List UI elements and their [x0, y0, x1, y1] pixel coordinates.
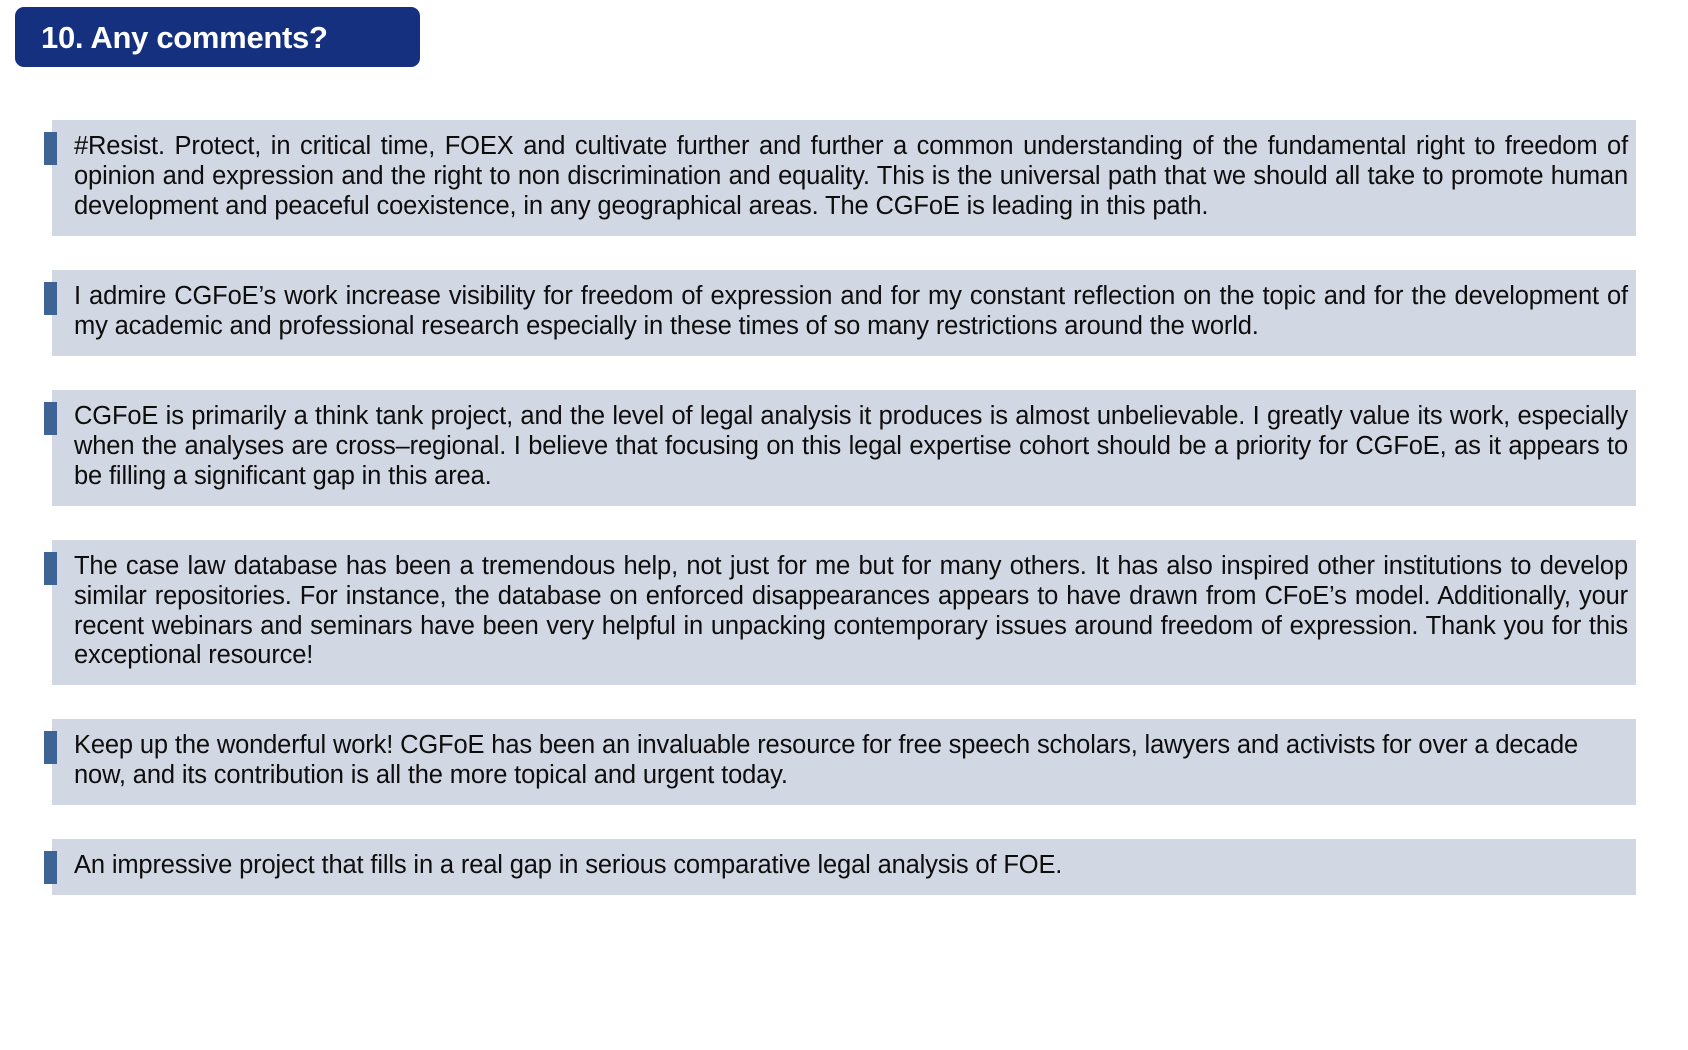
accent-bar-icon: [44, 731, 57, 764]
comment-card: Keep up the wonderful work! CGFoE has be…: [52, 719, 1636, 805]
accent-bar-icon: [44, 552, 57, 585]
comment-text: The case law database has been a tremend…: [74, 552, 1628, 672]
accent-bar-icon: [44, 282, 57, 315]
accent-bar-icon: [44, 851, 57, 884]
comment-text: Keep up the wonderful work! CGFoE has be…: [74, 731, 1628, 791]
comment-card: CGFoE is primarily a think tank project,…: [52, 390, 1636, 506]
comment-text: I admire CGFoE’s work increase visibilit…: [74, 282, 1628, 342]
accent-bar-icon: [44, 402, 57, 435]
comment-card: An impressive project that fills in a re…: [52, 839, 1636, 895]
accent-bar-icon: [44, 132, 57, 165]
comment-card: #Resist. Protect, in critical time, FOEX…: [52, 120, 1636, 236]
comments-list: #Resist. Protect, in critical time, FOEX…: [52, 120, 1636, 929]
comment-text: CGFoE is primarily a think tank project,…: [74, 402, 1628, 492]
slide-root: 10. Any comments? #Resist. Protect, in c…: [0, 0, 1688, 1050]
comment-card: I admire CGFoE’s work increase visibilit…: [52, 270, 1636, 356]
comment-card: The case law database has been a tremend…: [52, 540, 1636, 686]
comment-text: #Resist. Protect, in critical time, FOEX…: [74, 132, 1628, 222]
page-title-badge: 10. Any comments?: [15, 7, 420, 67]
comment-text: An impressive project that fills in a re…: [74, 851, 1628, 881]
page-title: 10. Any comments?: [41, 22, 328, 53]
